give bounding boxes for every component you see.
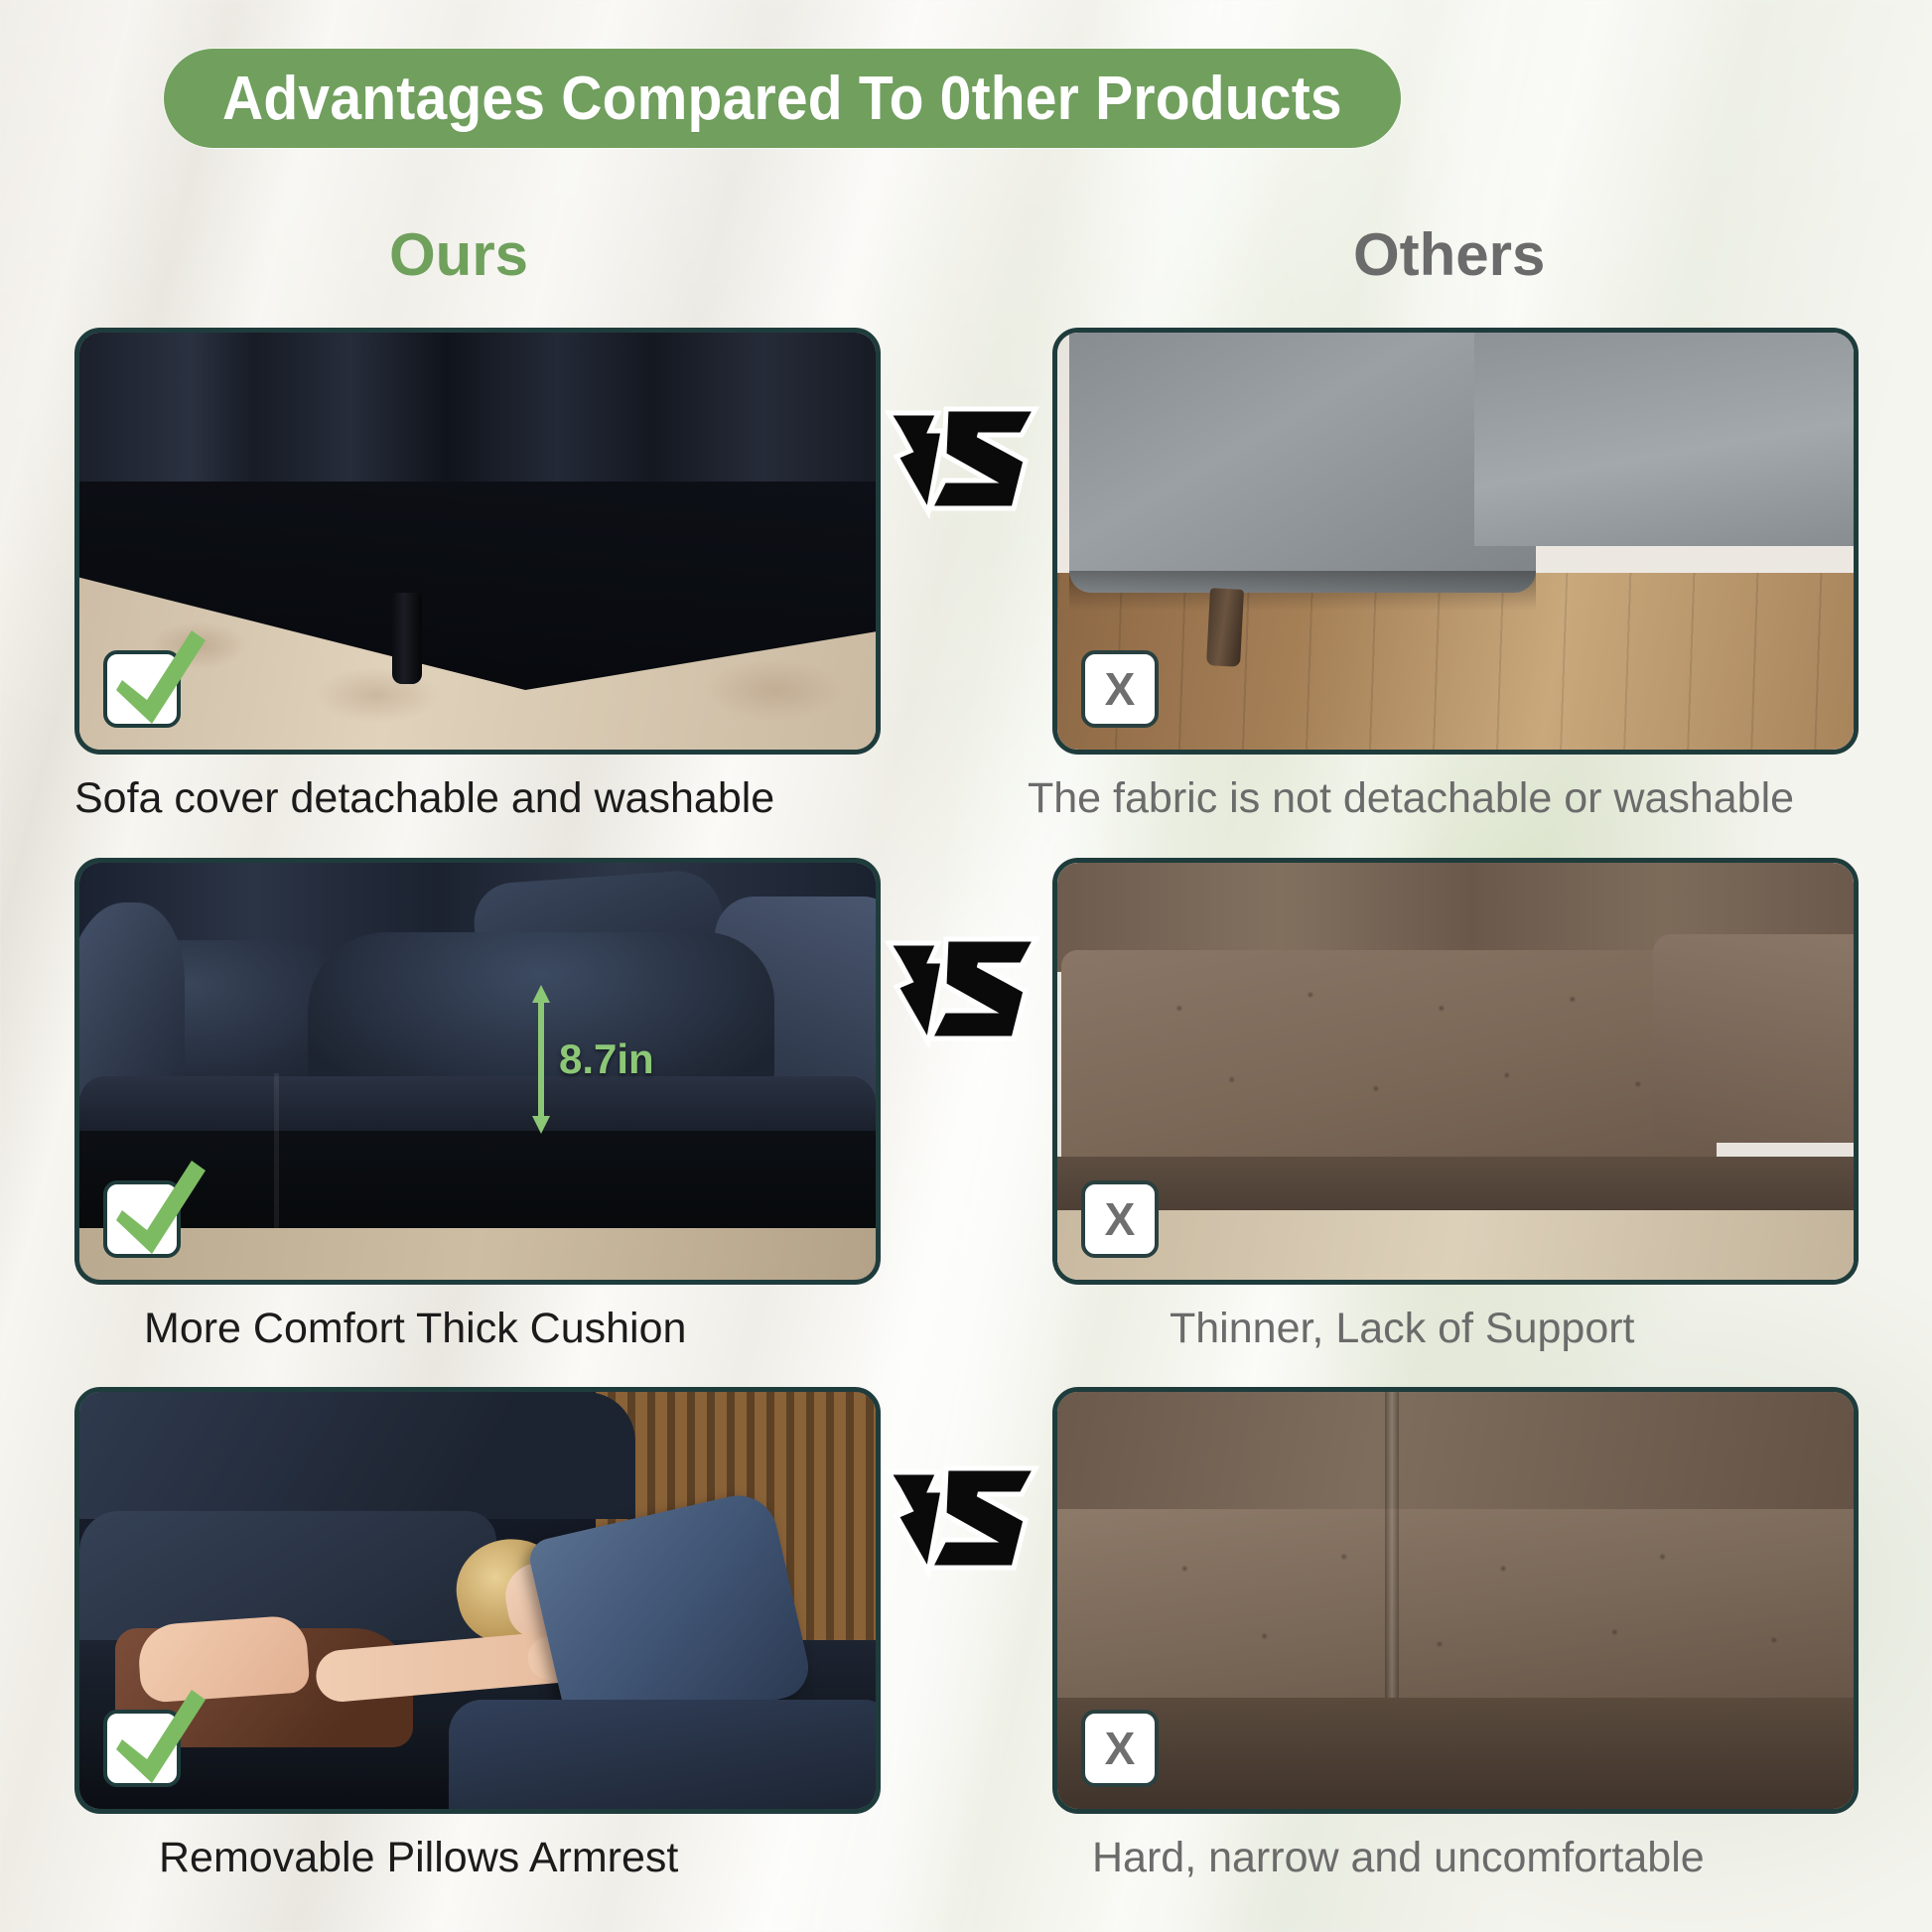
ours-image-card-2: 8.7in — [74, 858, 881, 1285]
sofa-leg-side — [1659, 542, 1697, 662]
others-caption-1: The fabric is not detachable or washable — [1028, 774, 1794, 823]
check-badge — [103, 1180, 181, 1258]
others-image-card-1: X — [1052, 328, 1859, 755]
floor-layer — [1057, 1210, 1854, 1280]
sofa-body-side — [1474, 333, 1859, 546]
x-badge: X — [1081, 1180, 1159, 1258]
close-icon: X — [1085, 1714, 1155, 1783]
photo-brown-tufted-thin-seat — [1057, 863, 1854, 1280]
title-banner: Advantages Compared To 0ther Products — [164, 49, 1401, 148]
ours-caption-2: More Comfort Thick Cushion — [144, 1305, 686, 1353]
seat-cushion — [1061, 950, 1717, 1173]
vs-logo-3 — [887, 1464, 1055, 1576]
sofa-leg — [392, 593, 422, 684]
ours-image-card-1 — [74, 328, 881, 755]
column-header-others: Others — [1353, 220, 1545, 289]
column-header-ours: Ours — [389, 220, 528, 289]
page-title: Advantages Compared To 0ther Products — [222, 64, 1342, 134]
others-image-card-3: X — [1052, 1387, 1859, 1814]
ours-image-card-3 — [74, 1387, 881, 1814]
photo-grey-leather-sofa-corner — [1057, 333, 1854, 750]
double-arrow-icon — [531, 985, 551, 1134]
armrest — [449, 1700, 881, 1814]
others-caption-2: Thinner, Lack of Support — [1170, 1305, 1635, 1353]
check-icon — [102, 1688, 211, 1791]
check-badge — [103, 1710, 181, 1787]
sofa-backrest — [79, 1392, 635, 1519]
check-badge — [103, 650, 181, 728]
ours-caption-3: Removable Pillows Armrest — [159, 1834, 678, 1882]
cushion-divider — [274, 1073, 279, 1252]
vs-logo-2 — [887, 935, 1055, 1046]
armrest-left — [74, 902, 185, 1101]
others-caption-3: Hard, narrow and uncomfortable — [1092, 1834, 1705, 1882]
x-badge: X — [1081, 1710, 1159, 1787]
sofa-leg-front — [1206, 588, 1244, 667]
close-icon: X — [1085, 1184, 1155, 1254]
vs-logo-1 — [887, 405, 1055, 516]
sofa-shadow — [1069, 571, 1536, 611]
dimension-annotation-ours: 8.7in — [531, 985, 654, 1134]
base-band — [1057, 1698, 1854, 1809]
sofa-body-front — [1069, 333, 1536, 593]
sofa-skirt — [79, 333, 876, 506]
others-image-card-2: X 3.9in — [1052, 858, 1859, 1285]
x-badge: X — [1081, 650, 1159, 728]
check-icon — [102, 628, 211, 732]
sofa-back-top — [1057, 1392, 1854, 1526]
ours-caption-1: Sofa cover detachable and washable — [74, 774, 774, 823]
dimension-label-ours: 8.7in — [559, 1035, 654, 1083]
check-icon — [102, 1159, 211, 1262]
corner-cushion — [1057, 1509, 1854, 1708]
photo-brown-tufted-hard-corner — [1057, 1392, 1854, 1809]
armrest-right — [1653, 934, 1859, 1143]
close-icon: X — [1085, 654, 1155, 724]
